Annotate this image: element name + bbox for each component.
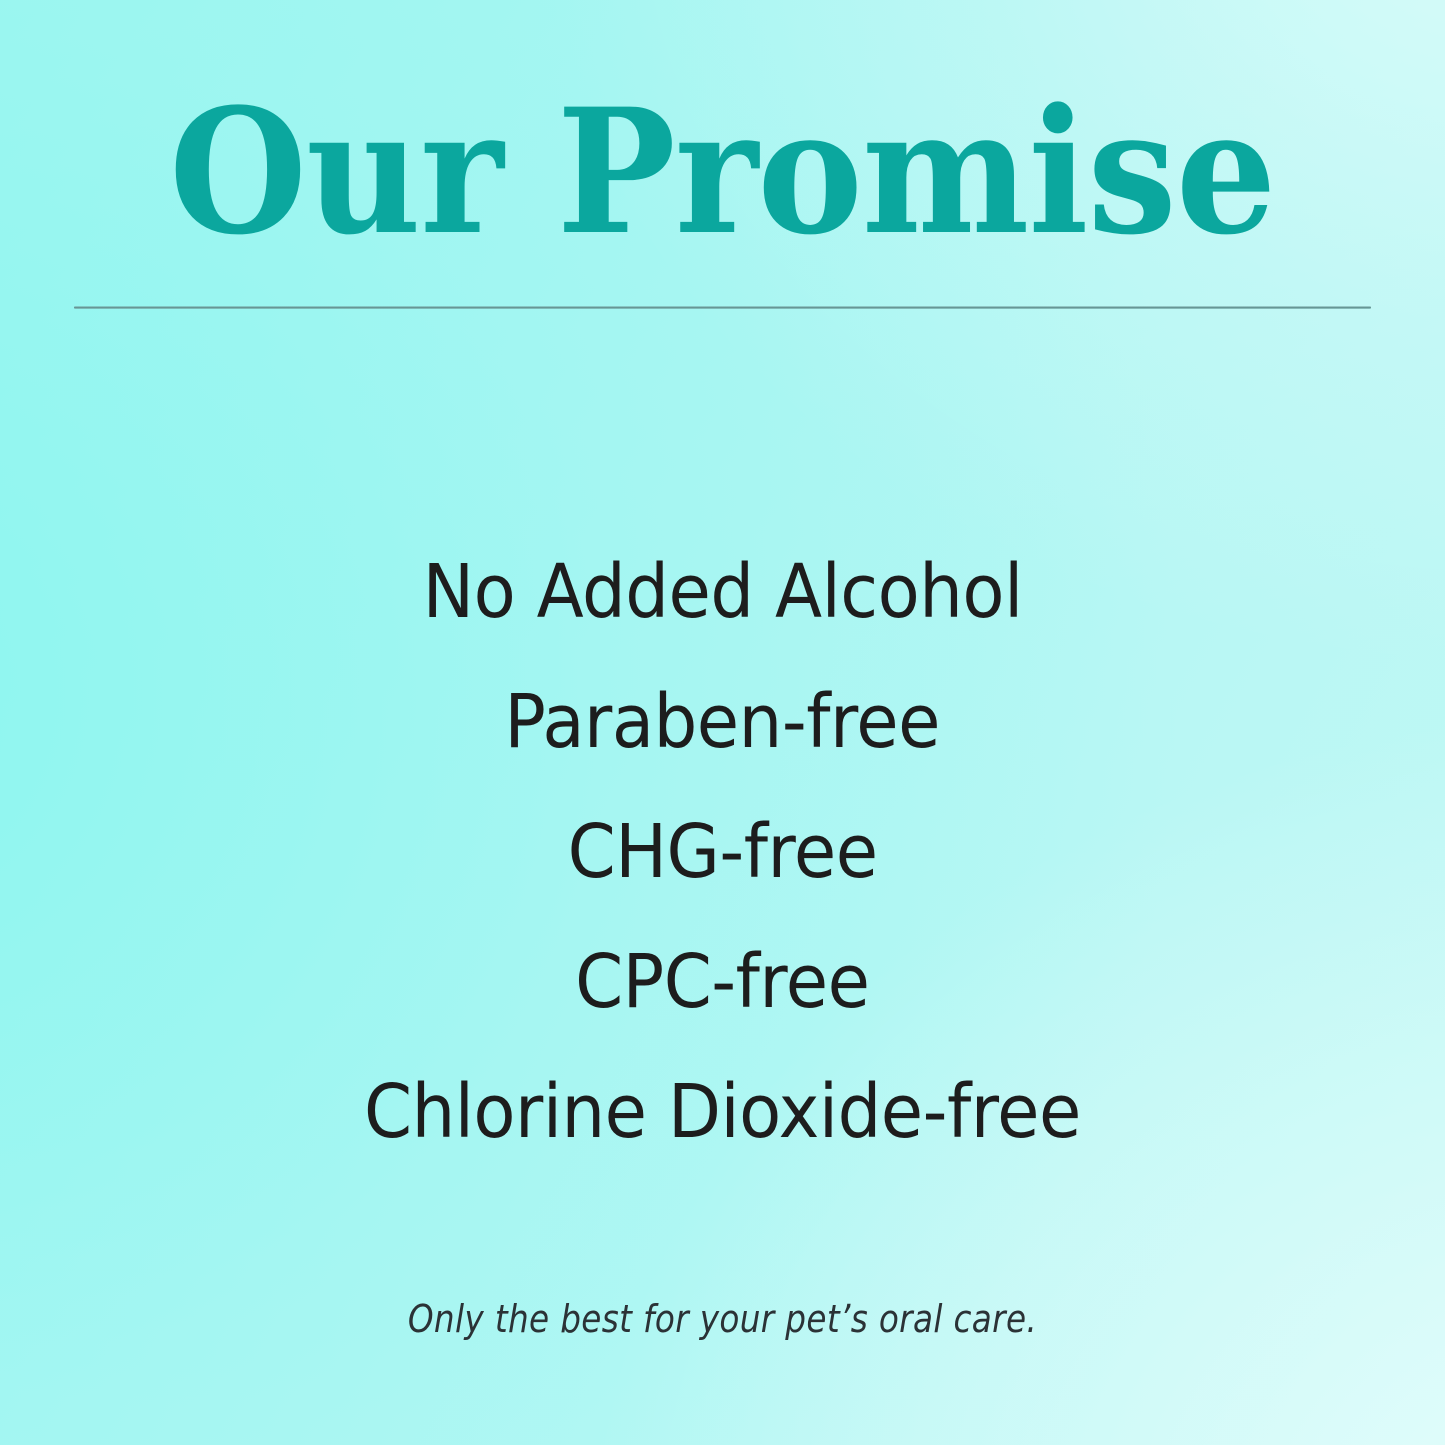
promise-list-item: Paraben-free xyxy=(505,657,941,787)
promise-list-item: CHG-free xyxy=(568,787,878,917)
header-block: Our Promise xyxy=(0,0,1445,309)
promise-list-item: Chlorine Dioxide-free xyxy=(364,1047,1081,1177)
title-divider xyxy=(74,306,1371,309)
promise-list-item: No Added Alcohol xyxy=(422,527,1022,657)
promise-list: No Added Alcohol Paraben-free CHG-free C… xyxy=(0,527,1445,1177)
promise-list-item: CPC-free xyxy=(575,917,869,1047)
page-title: Our Promise xyxy=(169,0,1275,258)
promise-card: Our Promise No Added Alcohol Paraben-fre… xyxy=(0,0,1445,1445)
footer-tagline: Only the best for your pet’s oral care. xyxy=(101,1300,1344,1338)
